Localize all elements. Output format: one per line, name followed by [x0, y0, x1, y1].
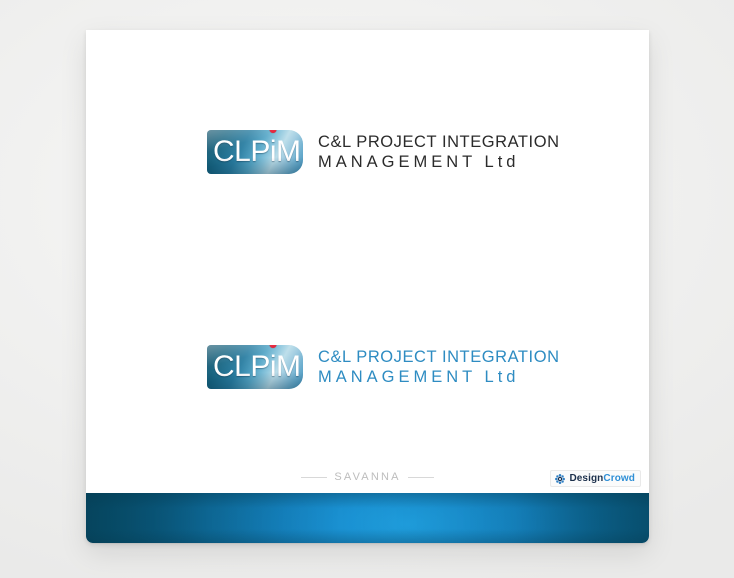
logo-mark-letter-m: M: [276, 137, 301, 167]
logo-text-alternate: C&L PROJECT INTEGRATION MANAGEMENT Ltd: [318, 349, 560, 386]
designcrowd-label-crowd: Crowd: [603, 473, 635, 484]
logo-mark-letter-i-stem: i: [270, 135, 276, 168]
presentation-sheet: CLPiM C&L PROJECT INTEGRATION MANAGEMENT…: [86, 30, 649, 543]
logo-mark-primary: CLPiM: [207, 130, 303, 174]
logo-lockup-primary: CLPiM C&L PROJECT INTEGRATION MANAGEMENT…: [207, 130, 560, 174]
designer-name: SAVANNA: [334, 471, 400, 483]
designcrowd-label: DesignCrowd: [569, 473, 635, 484]
logo-mark-wordmark: CLPiM: [213, 137, 301, 167]
logo-mark-letter-i: i: [270, 352, 276, 382]
logo-lockup-alternate: CLPiM C&L PROJECT INTEGRATION MANAGEMENT…: [207, 345, 560, 389]
logo-mark-letters-clp: CLP: [213, 137, 270, 167]
credit-rule-right: [408, 477, 434, 478]
company-name-line1: C&L PROJECT INTEGRATION: [318, 349, 560, 366]
designcrowd-label-design: Design: [569, 473, 603, 484]
logo-mark-letter-m: M: [276, 352, 301, 382]
company-name-line1: C&L PROJECT INTEGRATION: [318, 134, 560, 151]
logo-text-primary: C&L PROJECT INTEGRATION MANAGEMENT Ltd: [318, 134, 560, 171]
logo-mark-letter-i: i: [270, 137, 276, 167]
logo-mark-letter-i-stem: i: [270, 350, 276, 383]
company-name-line2: MANAGEMENT Ltd: [318, 154, 560, 171]
brand-band-vignette: [86, 493, 649, 543]
logo-mark-letters-clp: CLP: [213, 352, 270, 382]
brand-color-band: [86, 493, 649, 543]
designcrowd-flower-icon: [555, 474, 565, 484]
logo-mark-wordmark: CLPiM: [213, 352, 301, 382]
logo-mark-red-dot-icon: [269, 130, 276, 133]
logo-mark-alternate: CLPiM: [207, 345, 303, 389]
designcrowd-watermark: DesignCrowd: [550, 470, 641, 487]
logo-mark-red-dot-icon: [269, 345, 276, 348]
credit-rule-left: [301, 477, 327, 478]
company-name-line2: MANAGEMENT Ltd: [318, 369, 560, 386]
